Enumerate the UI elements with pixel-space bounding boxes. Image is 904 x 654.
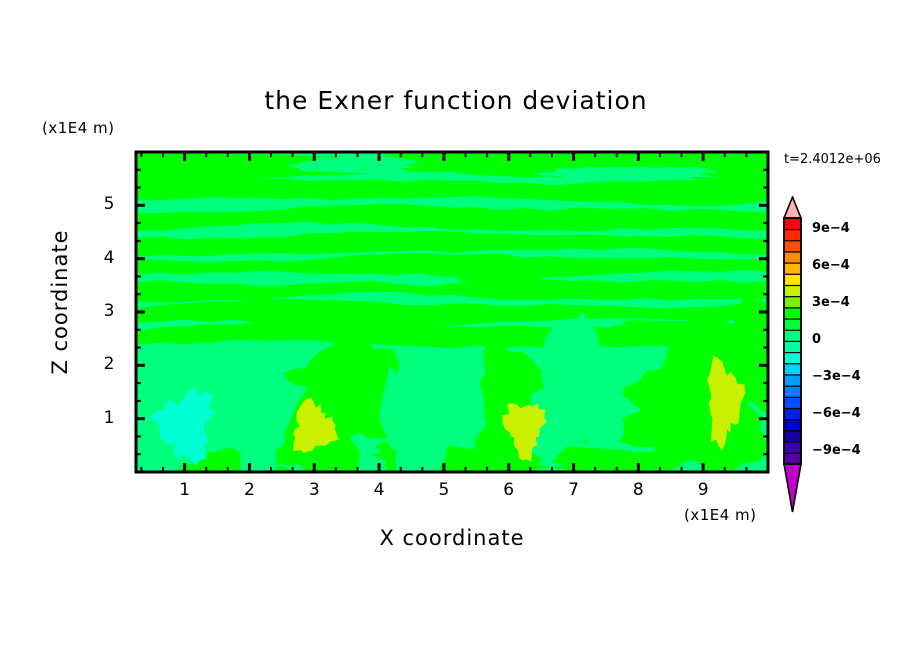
figure-canvas: the Exner function deviation (x1E4 m) (x… (0, 0, 904, 654)
x-tick-label: 3 (294, 480, 334, 500)
x-tick-label: 4 (359, 480, 399, 500)
y-tick-label: 3 (94, 301, 124, 321)
colorbar-tick-label: 6e−4 (812, 258, 850, 273)
x-tick-label: 7 (554, 480, 594, 500)
y-tick-label: 4 (94, 248, 124, 268)
colorbar-tick-label: −3e−4 (812, 369, 861, 384)
x-tick-label: 2 (229, 480, 269, 500)
contour-plot-area (0, 0, 904, 654)
y-tick-label: 2 (94, 354, 124, 374)
x-tick-label: 9 (683, 480, 723, 500)
x-tick-label: 6 (489, 480, 529, 500)
colorbar-tick-label: −6e−4 (812, 406, 861, 421)
colorbar-tick-label: −9e−4 (812, 443, 861, 458)
colorbar-tick-label: 3e−4 (812, 295, 850, 310)
y-tick-label: 5 (94, 194, 124, 214)
y-tick-label: 1 (94, 408, 124, 428)
colorbar-tick-label: 0 (812, 332, 821, 347)
x-tick-label: 5 (424, 480, 464, 500)
x-tick-label: 1 (165, 480, 205, 500)
x-tick-label: 8 (618, 480, 658, 500)
colorbar (776, 196, 816, 516)
colorbar-tick-label: 9e−4 (812, 221, 850, 236)
